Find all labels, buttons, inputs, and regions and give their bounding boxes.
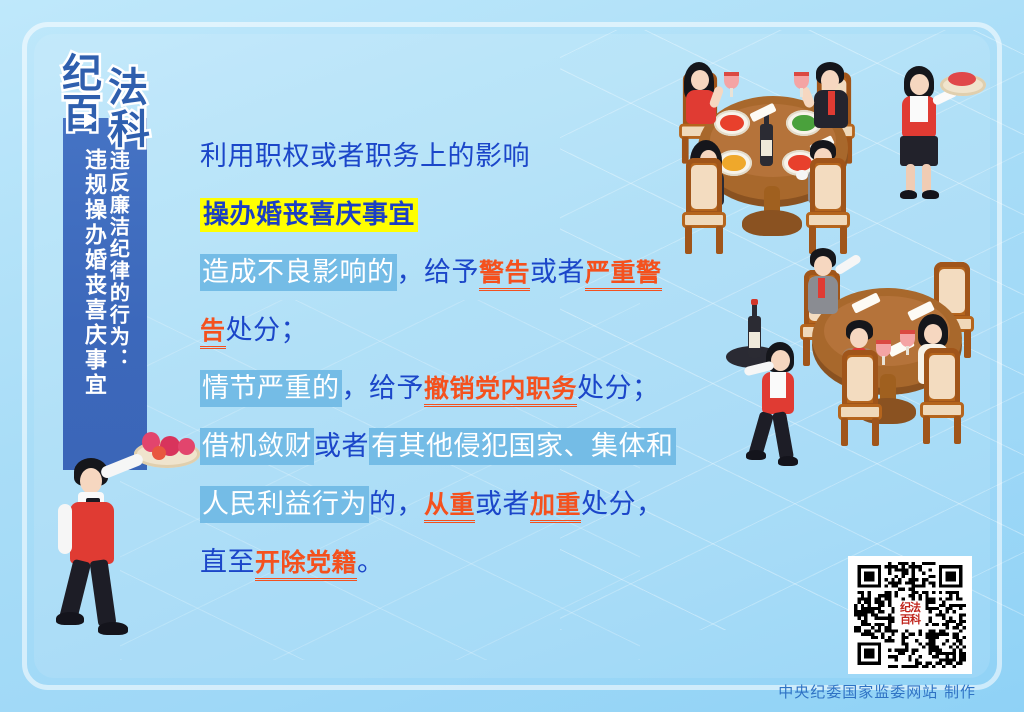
line-8-segment-3: 。 (357, 547, 385, 578)
wine-bottle (748, 316, 761, 358)
line-3-segment-2: ，给予 (397, 257, 480, 288)
wine-bottle (760, 124, 773, 166)
line-7-segment-5: 加重 (530, 490, 581, 523)
chair (916, 348, 968, 444)
qr-center-logo: 纪法 百科 (895, 602, 925, 628)
torso (70, 502, 114, 564)
wine-glass (900, 330, 915, 347)
play-triangle-icon (84, 112, 97, 128)
line-6-segment-3: 有其他侵犯国家、集体和 (369, 428, 676, 465)
table-foot (742, 210, 802, 236)
line-5-segment-3: 撤销党内职务 (424, 374, 577, 407)
qr-code[interactable]: 纪法 百科 (848, 556, 972, 674)
line-7-segment-6: 处分， (581, 489, 664, 520)
line-7-segment-4: 或者 (475, 489, 530, 520)
line-8-segment-1: 直至 (200, 547, 255, 578)
vertical-title-banner: 违反廉洁纪律的行为： 违规操办婚丧喜庆事宜 (63, 118, 147, 470)
waitress-walking (726, 318, 816, 458)
footer-credit: 中央纪委国家监委网站 制作 (778, 681, 976, 702)
banner-subtitle: 违反廉洁纪律的行为： (108, 148, 128, 470)
wine-glass (724, 72, 739, 89)
line-7-segment-3: 从重 (424, 490, 475, 523)
logo-char-1: 纪 (62, 54, 102, 94)
logo-char-2: 法 (108, 68, 148, 108)
line-5-segment-1: 情节严重的 (200, 370, 342, 407)
waiter-walking (56, 440, 206, 640)
line-7: 人民利益行为的，从重或者加重处分， (200, 476, 700, 534)
line-3-segment-3: 警告 (479, 258, 530, 291)
line-4: 告处分； (200, 302, 700, 360)
main-text-block: 利用职权或者职务上的影响操办婚丧喜庆事宜造成不良影响的，给予警告或者严重警告处分… (200, 128, 700, 592)
line-3-segment-4: 或者 (530, 257, 585, 288)
logo-char-4: 科 (110, 110, 150, 150)
chair (802, 158, 854, 254)
line-6-segment-2: 或者 (314, 431, 369, 462)
waitress-standing (888, 62, 968, 202)
poster-root: 纪 法 百 科 违反廉洁纪律的行为： 违规操办婚丧喜庆事宜 (0, 0, 1024, 712)
chair (834, 350, 886, 446)
line-6: 借机敛财或者有其他侵犯国家、集体和 (200, 418, 700, 476)
line-5: 情节严重的，给予撤销党内职务处分； (200, 360, 700, 418)
line-3-segment-1: 造成不良影响的 (200, 254, 397, 291)
line-2-segment-1: 操办婚丧喜庆事宜 (200, 198, 418, 232)
brand-logo: 纪 法 百 科 (56, 54, 164, 164)
line-6-segment-1: 借机敛财 (200, 428, 314, 465)
line-7-segment-1: 人民利益行为 (200, 486, 369, 523)
line-3-segment-5: 严重警 (585, 258, 662, 291)
line-1-segment-1: 利用职权或者职务上的影响 (200, 141, 530, 172)
line-5-segment-2: ，给予 (342, 373, 425, 404)
banner-title: 违规操办婚丧喜庆事宜 (82, 148, 104, 470)
line-8-segment-2: 开除党籍 (255, 548, 357, 581)
line-4-segment-1: 告 (200, 316, 226, 349)
line-8: 直至开除党籍。 (200, 534, 700, 592)
line-5-segment-4: 处分； (577, 373, 660, 404)
wine-glass (794, 72, 809, 89)
line-4-segment-2: 处分； (226, 315, 309, 346)
plate (714, 110, 750, 136)
line-3: 造成不良影响的，给予警告或者严重警 (200, 244, 700, 302)
qr-logo-line-2: 百科 (895, 614, 925, 626)
line-7-segment-2: 的， (369, 489, 424, 520)
line-2: 操办婚丧喜庆事宜 (200, 186, 700, 244)
line-1: 利用职权或者职务上的影响 (200, 128, 700, 186)
banquet-table-lower (790, 256, 1000, 456)
